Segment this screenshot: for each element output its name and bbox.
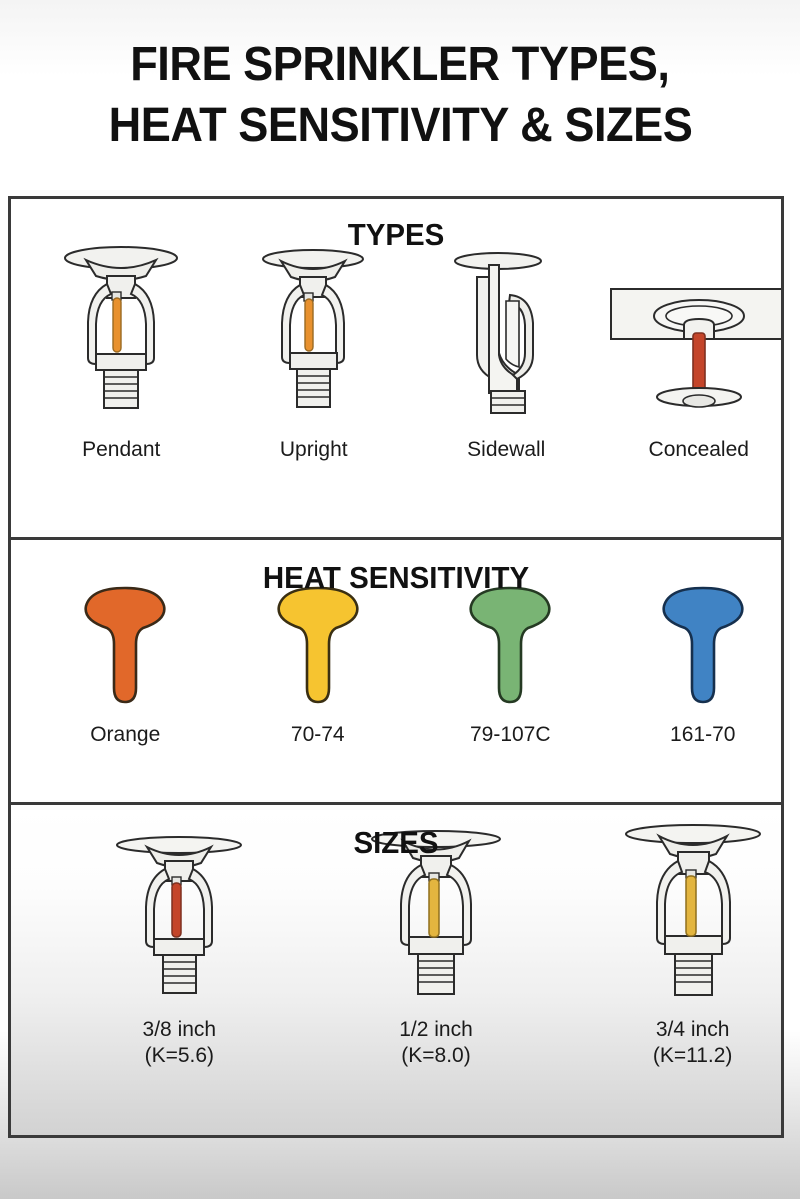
type-label-sidewall: Sidewall [467,437,545,463]
section-sizes: SIZES [11,805,781,1135]
type-item-sidewall[interactable]: Sidewall [413,231,599,463]
blue-bulb-icon [657,584,749,708]
type-item-upright[interactable]: Upright [221,231,407,463]
size-label-1-2: 1/2 inch [399,1017,473,1043]
infographic-poster: FIRE SPRINKLER TYPES, HEAT SENSITIVITY &… [0,0,800,1199]
heat-item-yellow[interactable]: 70-74 [233,580,403,748]
green-bulb-figure [464,580,556,708]
green-bulb-icon [464,584,556,708]
heat-label-orange: Orange [90,722,160,748]
heat-item-blue[interactable]: 161-70 [618,580,781,748]
title-line-2: HEAT SENSITIVITY & SIZES [108,95,692,156]
concealed-figure [609,231,781,421]
size-sublabel-3-8: (K=5.6) [145,1043,214,1069]
size-label-3-8: 3/8 inch [143,1017,217,1043]
section-heat-heading: HEAT SENSITIVITY [30,540,762,596]
upright-figure [251,231,376,421]
heat-item-green[interactable]: 79-107C [425,580,595,748]
heat-label-blue: 161-70 [670,722,735,748]
size-3-8-bulb [172,883,181,937]
size-label-3-4: 3/4 inch [656,1017,730,1043]
type-label-pendant: Pendant [82,437,160,463]
yellow-bulb-figure [272,580,364,708]
section-heat-sensitivity: HEAT SENSITIVITY Orange [11,537,781,805]
size-sublabel-1-2: (K=8.0) [401,1043,470,1069]
type-label-upright: Upright [280,437,348,463]
upright-sprinkler-icon [251,241,376,421]
orange-bulb-icon [79,584,171,708]
heat-row: Orange 70-74 79- [11,608,781,748]
type-label-concealed: Concealed [649,437,749,463]
type-item-concealed[interactable]: Concealed [606,231,781,463]
type-item-pendant[interactable]: Pendant [28,231,214,463]
section-types: TYPES [11,199,781,537]
upright-bulb [305,299,313,351]
pendant-figure [56,231,186,421]
size-3-4-bulb [686,876,696,936]
heat-item-orange[interactable]: Orange [40,580,210,748]
yellow-bulb-icon [272,584,364,708]
pendant-sprinkler-icon [56,236,186,421]
size-1-2-bulb [429,879,439,937]
poster-title: FIRE SPRINKLER TYPES, HEAT SENSITIVITY &… [0,0,800,190]
size-sublabel-3-4: (K=11.2) [653,1043,733,1069]
orange-bulb-figure [79,580,171,708]
sidewall-figure [449,231,564,421]
section-types-heading: TYPES [30,199,762,253]
sidewall-sprinkler-icon [449,243,564,421]
section-sizes-heading: SIZES [30,805,762,861]
concealed-sprinkler-icon [609,271,781,421]
concealed-bulb [693,333,705,395]
sizes-row: 3/8 inch (K=5.6) [11,869,781,1069]
types-row: Pendant [11,263,781,463]
blue-bulb-figure [657,580,749,708]
title-line-1: FIRE SPRINKLER TYPES, [130,34,669,95]
heat-label-yellow: 70-74 [291,722,345,748]
content-frame: TYPES [8,196,784,1138]
pendant-bulb [113,298,121,352]
heat-label-green: 79-107C [470,722,551,748]
